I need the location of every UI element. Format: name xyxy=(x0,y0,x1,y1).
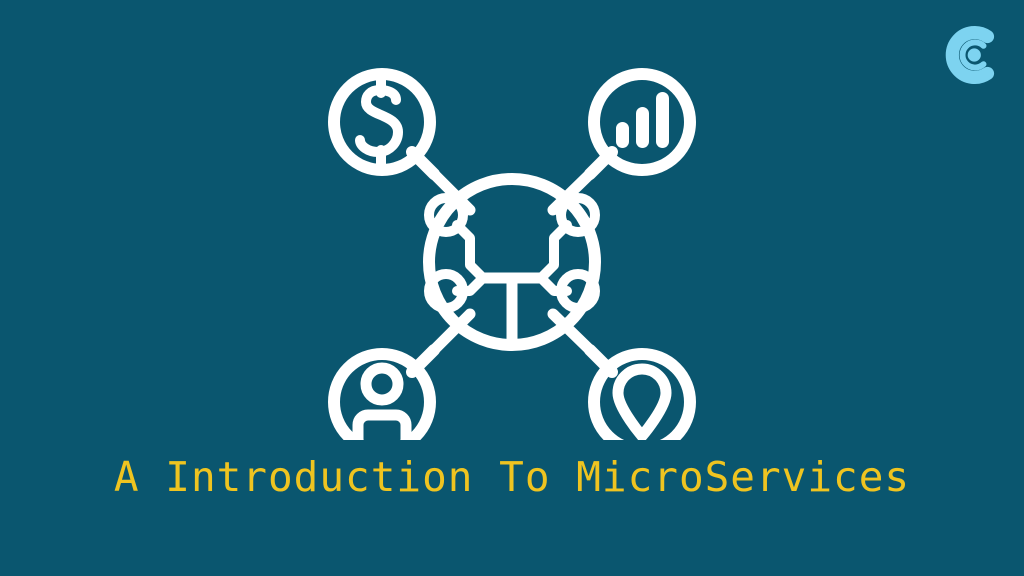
center-hub[interactable] xyxy=(429,179,595,345)
bar-3 xyxy=(656,92,669,148)
magnifier-user-icon[interactable] xyxy=(334,350,434,440)
magnifier-location-icon[interactable] xyxy=(590,350,690,440)
user-body xyxy=(358,415,406,440)
bar-2 xyxy=(636,107,649,148)
microservices-hub-diagram xyxy=(0,60,1024,440)
hub-link-upper-right xyxy=(541,225,567,278)
slide-canvas: A Introduction To MicroServices xyxy=(0,0,1024,576)
barchart-bars xyxy=(616,92,669,148)
location-pin-outline xyxy=(618,369,666,436)
magnifier-barchart-icon[interactable] xyxy=(590,74,690,174)
hub-link-upper-left xyxy=(457,225,483,278)
page-title: A Introduction To MicroServices xyxy=(0,455,1024,500)
bar-1 xyxy=(616,122,629,148)
magnifier-dollar-icon[interactable] xyxy=(334,74,434,174)
dollar-s-curve xyxy=(360,90,398,152)
user-head xyxy=(366,368,398,400)
